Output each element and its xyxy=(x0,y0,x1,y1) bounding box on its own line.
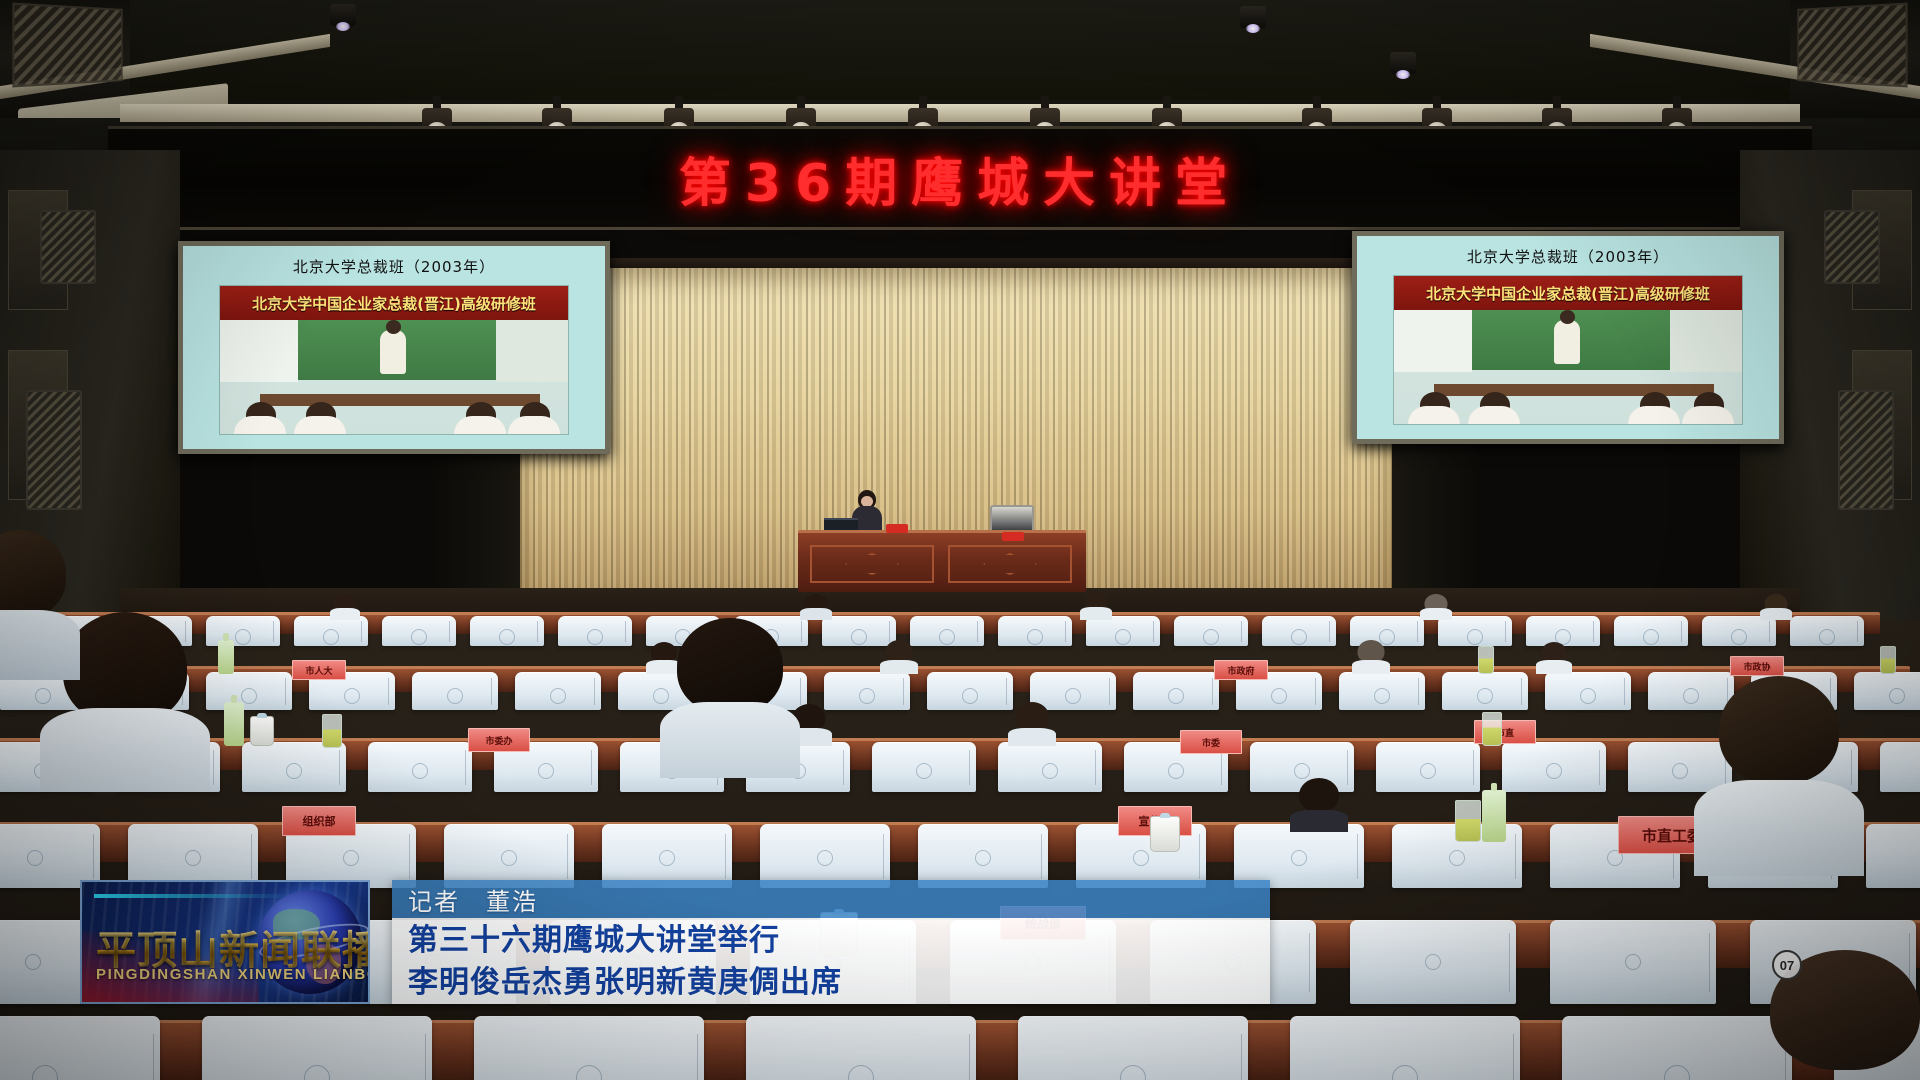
screen-title-left: 北京大学总裁班（2003年） xyxy=(293,256,495,277)
audience-chair[interactable] xyxy=(294,616,368,646)
audience-member-foreground-edge xyxy=(0,530,80,680)
side-speaker-box xyxy=(26,390,82,510)
audience-chair[interactable] xyxy=(1234,824,1364,888)
led-banner-text: 第36期鹰城大讲堂 xyxy=(679,141,1241,216)
audience-chair[interactable] xyxy=(242,742,346,792)
led-banner: 第36期鹰城大讲堂 xyxy=(108,126,1812,230)
logo-accent-line xyxy=(94,894,294,898)
channel-name-en: PINGDINGSHAN XINWEN LIANBO xyxy=(96,966,370,983)
desk-name-card: 组织部 xyxy=(282,806,356,836)
audience-chair[interactable] xyxy=(1350,920,1516,1004)
ceiling-downlight-icon xyxy=(330,4,356,26)
audience-chair[interactable] xyxy=(128,824,258,888)
audience-chair[interactable] xyxy=(474,1016,704,1080)
ceiling-downlight-icon xyxy=(1390,52,1416,74)
podium-microphone-base xyxy=(1002,532,1024,541)
drinking-glass xyxy=(1482,712,1502,746)
audience-chair[interactable] xyxy=(1550,920,1716,1004)
seat-number-badge: 07 xyxy=(1772,950,1802,980)
audience-member xyxy=(1760,594,1792,620)
headline-box: 第三十六期鹰城大讲堂举行 李明俊岳杰勇张明新黄庚倜出席 xyxy=(392,918,1270,1004)
audience-member-foreground-center xyxy=(660,618,800,778)
screen-slide-photo-right: 北京大学中国企业家总裁(晋江)高级研修班 xyxy=(1393,275,1743,425)
water-bottle xyxy=(224,702,244,746)
audience-chair[interactable] xyxy=(824,672,910,710)
audience-member xyxy=(1290,778,1348,832)
drinking-glass xyxy=(1455,800,1481,842)
water-bottle xyxy=(218,640,234,674)
audience-member xyxy=(1536,642,1572,674)
audience-chair[interactable] xyxy=(1339,672,1425,710)
ceiling-slab xyxy=(130,0,1790,100)
audience-chair[interactable] xyxy=(760,824,890,888)
audience-chair[interactable] xyxy=(470,616,544,646)
audience-chair[interactable] xyxy=(872,742,976,792)
audience-chair[interactable] xyxy=(1290,1016,1520,1080)
audience-chair[interactable] xyxy=(910,616,984,646)
audience-member xyxy=(1352,640,1390,674)
reporter-label: 记者 董浩 xyxy=(408,882,538,917)
audience-member xyxy=(1420,594,1452,620)
ceiling-speaker-grille-left xyxy=(12,3,122,88)
audience-chair[interactable] xyxy=(1133,672,1219,710)
audience-chair[interactable] xyxy=(1262,616,1336,646)
audience-chair[interactable] xyxy=(1018,1016,1248,1080)
audience-chair[interactable] xyxy=(918,824,1048,888)
audience-chair[interactable] xyxy=(1438,616,1512,646)
audience-chair[interactable] xyxy=(998,616,1072,646)
audience-chair[interactable] xyxy=(746,1016,976,1080)
audience-chair[interactable] xyxy=(0,1016,160,1080)
broadcast-screenshot: 第36期鹰城大讲堂 北京大学总裁班（2003年） 北京大学中国企业家总裁(晋江)… xyxy=(0,0,1920,1080)
audience-chair[interactable] xyxy=(382,616,456,646)
audience-chair[interactable] xyxy=(1376,742,1480,792)
audience-chair[interactable] xyxy=(444,824,574,888)
drinking-glass xyxy=(322,714,342,748)
audience-chair[interactable] xyxy=(1702,616,1776,646)
screen-title-right: 北京大学总裁班（2003年） xyxy=(1467,246,1669,267)
audience-chair-row xyxy=(30,616,1864,646)
audience-chair[interactable] xyxy=(558,616,632,646)
audience-chair[interactable] xyxy=(412,672,498,710)
water-bottle xyxy=(1482,790,1506,842)
screen-slide-banner-left: 北京大学中国企业家总裁(晋江)高级研修班 xyxy=(252,293,536,314)
audience-chair[interactable] xyxy=(0,824,100,888)
audience-area: 北京大学总裁班（2003年） 北京大学中国企业家总裁(晋江)高级研修班 xyxy=(0,620,1920,1080)
audience-chair-row xyxy=(0,742,1920,792)
audience-chair[interactable] xyxy=(202,1016,432,1080)
tea-cup xyxy=(250,716,274,746)
drinking-glass xyxy=(1478,646,1494,674)
audience-chair[interactable] xyxy=(1442,672,1528,710)
audience-chair[interactable] xyxy=(1174,616,1248,646)
desk-name-card: 市委办 xyxy=(468,728,530,752)
headline-line-1: 第三十六期鹰城大讲堂举行 xyxy=(408,920,1270,962)
audience-chair[interactable] xyxy=(1790,616,1864,646)
audience-member-foreground-bottom-right xyxy=(1740,950,1920,1080)
desk-name-card: 市委 xyxy=(1180,730,1242,754)
headline-line-2: 李明俊岳杰勇张明新黄庚倜出席 xyxy=(408,962,1270,1004)
ceiling-downlight-icon xyxy=(1240,6,1266,28)
audience-member xyxy=(1080,592,1112,620)
side-speaker-box xyxy=(40,210,96,284)
side-speaker-box xyxy=(1838,390,1894,510)
tea-cup xyxy=(1150,816,1180,852)
audience-member xyxy=(800,594,832,620)
audience-chair-row xyxy=(0,1016,1920,1080)
audience-chair[interactable] xyxy=(206,672,292,710)
audience-chair[interactable] xyxy=(1614,616,1688,646)
audience-chair-row xyxy=(0,672,1920,710)
reporter-bar: 记者 董浩 xyxy=(392,880,1270,918)
audience-member xyxy=(880,640,918,674)
audience-chair[interactable] xyxy=(515,672,601,710)
audience-chair[interactable] xyxy=(998,742,1102,792)
drinking-glass xyxy=(1880,646,1896,674)
audience-chair[interactable] xyxy=(1502,742,1606,792)
audience-member xyxy=(1008,702,1056,746)
channel-logo: 平顶山新闻联播 PINGDINGSHAN XINWEN LIANBO xyxy=(80,880,370,1004)
desk-name-card: 市政府 xyxy=(1214,660,1268,680)
audience-chair[interactable] xyxy=(602,824,732,888)
screen-slide-photo-left: 北京大学中国企业家总裁(晋江)高级研修班 xyxy=(219,285,569,435)
lower-third-caption: 记者 董浩 第三十六期鹰城大讲堂举行 李明俊岳杰勇张明新黄庚倜出席 xyxy=(392,880,1270,1004)
audience-chair[interactable] xyxy=(1866,824,1920,888)
podium-microphone-base xyxy=(886,524,908,533)
desk-name-card: 市政协 xyxy=(1730,656,1784,676)
projection-screen-left: 北京大学总裁班（2003年） 北京大学中国企业家总裁(晋江)高级研修班 xyxy=(178,241,610,454)
desk-name-card: 市人大 xyxy=(292,660,346,680)
screen-slide-banner-right: 北京大学中国企业家总裁(晋江)高级研修班 xyxy=(1426,283,1710,304)
audience-member xyxy=(330,594,360,620)
projection-screen-right: 北京大学总裁班（2003年） 北京大学中国企业家总裁(晋江)高级研修班 xyxy=(1352,231,1784,444)
speaker-podium-table xyxy=(798,530,1086,592)
audience-chair[interactable] xyxy=(1086,616,1160,646)
side-speaker-box xyxy=(1824,210,1880,284)
auditorium-ceiling xyxy=(0,0,1920,120)
audience-chair[interactable] xyxy=(1880,742,1920,792)
audience-member-foreground-right xyxy=(1694,676,1864,876)
audience-chair[interactable] xyxy=(368,742,472,792)
audience-chair[interactable] xyxy=(1545,672,1631,710)
ceiling-speaker-grille-right xyxy=(1797,3,1907,88)
audience-chair[interactable] xyxy=(927,672,1013,710)
